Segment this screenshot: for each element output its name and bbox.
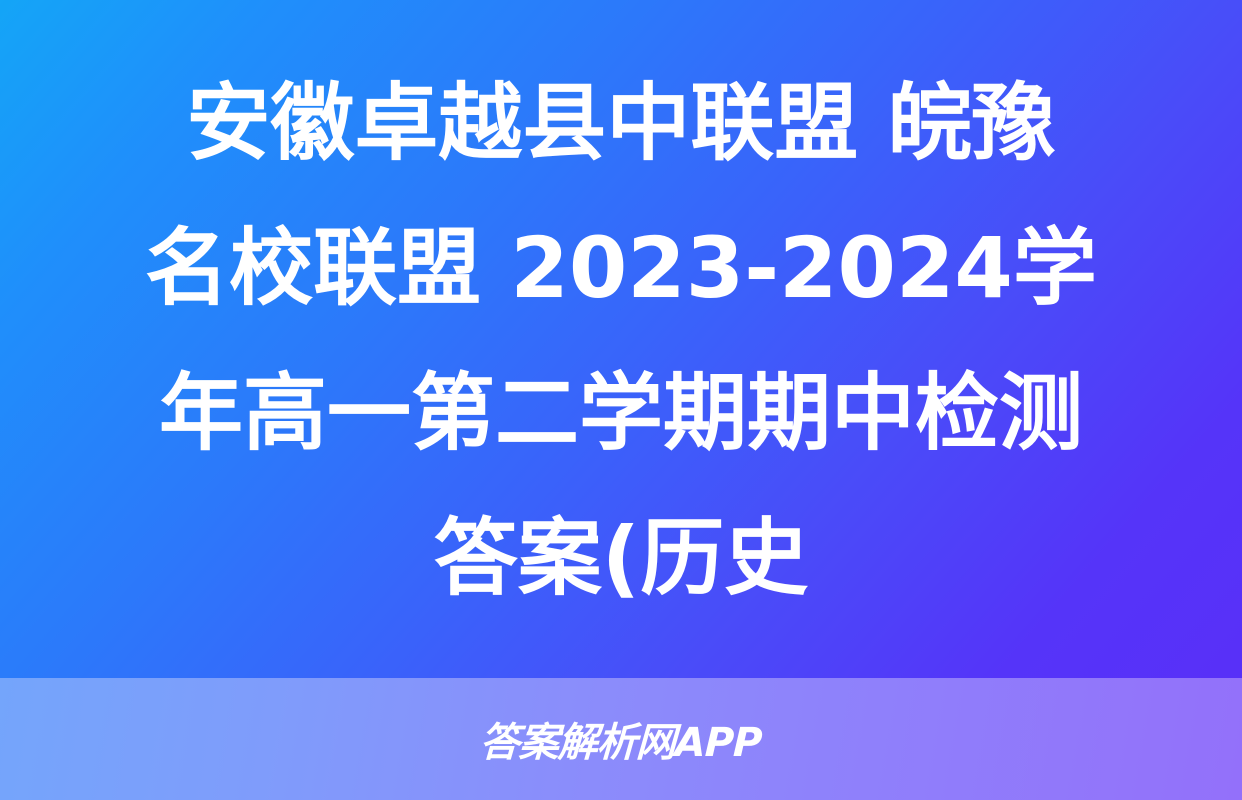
poster-canvas: 安徽卓越县中联盟 皖豫 名校联盟 2023-2024学 年高一第二学期期中检测 … [0, 0, 1242, 800]
headline-line-1: 安徽卓越县中联盟 皖豫 [186, 51, 1055, 196]
headline-line-2: 名校联盟 2023-2024学 [145, 196, 1097, 341]
watermark-app-label: 答案解析网APP [479, 710, 763, 768]
watermark-bar: 答案解析网APP [0, 678, 1242, 800]
headline-block: 安徽卓越县中联盟 皖豫 名校联盟 2023-2024学 年高一第二学期期中检测 … [0, 0, 1242, 678]
headline-line-3: 年高一第二学期期中检测 [159, 341, 1083, 486]
headline-line-4: 答案(历史 [434, 486, 808, 631]
